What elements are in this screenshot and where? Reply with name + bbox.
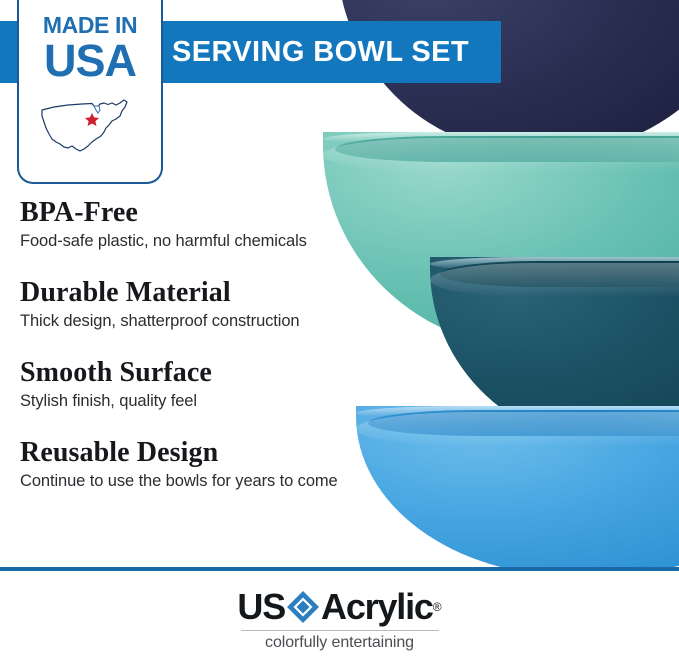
page-title: SERVING BOWL SET — [172, 36, 469, 69]
feature-subtitle: Stylish finish, quality feel — [20, 391, 420, 412]
registered-trademark-mark: ® — [433, 601, 442, 613]
diamond-icon — [286, 590, 320, 624]
feature-title: Durable Material — [20, 277, 420, 308]
feature-subtitle: Continue to use the bowls for years to c… — [20, 471, 420, 492]
product-infographic: SERVING BOWL SET MADE IN USA BPA-Free Fo… — [0, 0, 679, 669]
light-teal-bowl-highlight — [323, 138, 679, 172]
dark-teal-bowl-highlight — [430, 263, 679, 297]
tagline-container: colorfully entertaining — [241, 630, 439, 652]
usa-label: USA — [44, 38, 136, 83]
usa-map-icon — [34, 94, 146, 164]
feature-item-smooth-surface: Smooth Surface Stylish finish, quality f… — [20, 357, 420, 412]
feature-item-durable-material: Durable Material Thick design, shatterpr… — [20, 277, 420, 332]
logo-text-acrylic: Acrylic — [321, 589, 433, 625]
made-in-usa-badge: MADE IN USA — [17, 0, 163, 184]
feature-title: BPA-Free — [20, 197, 420, 228]
feature-subtitle: Thick design, shatterproof construction — [20, 311, 420, 332]
feature-item-bpa-free: BPA-Free Food-safe plastic, no harmful c… — [20, 197, 420, 252]
feature-subtitle: Food-safe plastic, no harmful chemicals — [20, 231, 420, 252]
brand-tagline: colorfully entertaining — [265, 634, 414, 652]
feature-list: BPA-Free Food-safe plastic, no harmful c… — [20, 197, 420, 517]
feature-title: Smooth Surface — [20, 357, 420, 388]
brand-footer: US Acrylic ® colorfully entertaining — [0, 571, 679, 669]
feature-item-reusable-design: Reusable Design Continue to use the bowl… — [20, 437, 420, 492]
us-acrylic-logo: US Acrylic ® — [237, 589, 441, 625]
logo-text-us: US — [237, 589, 285, 625]
feature-title: Reusable Design — [20, 437, 420, 468]
made-in-label: MADE IN — [43, 14, 137, 37]
